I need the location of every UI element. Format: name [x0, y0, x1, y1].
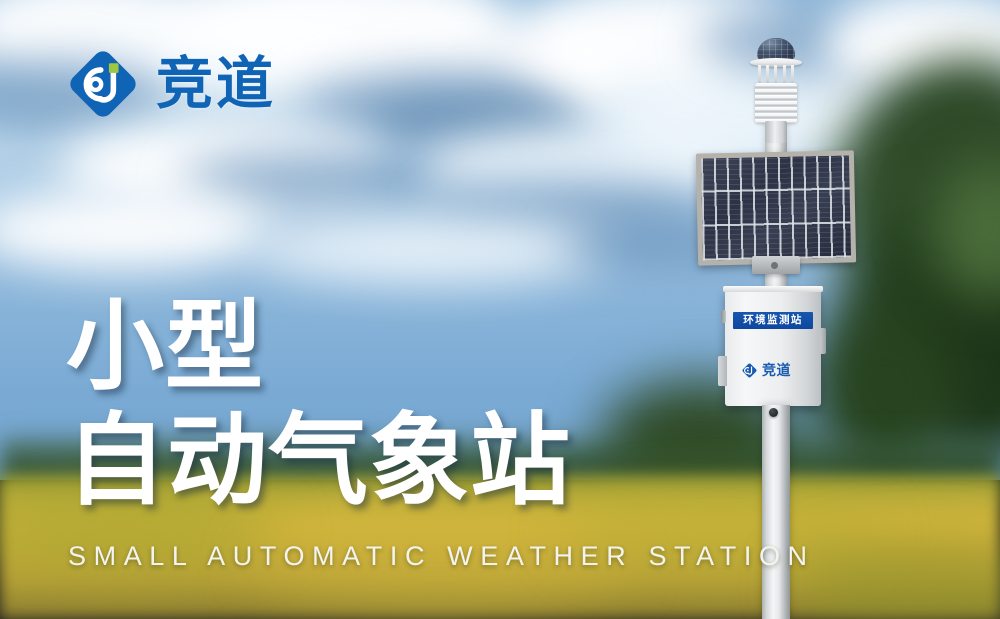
- promotional-banner: 环境监测站 竞道: [0, 0, 1000, 619]
- brand-name: 竞道: [156, 56, 276, 113]
- headline-block: 小型 自动气象站: [66, 296, 571, 514]
- subtitle-english: SMALL AUTOMATIC WEATHER STATION: [68, 541, 815, 572]
- jingdao-diamond-logo-icon: [66, 47, 140, 121]
- headline-line-1: 小型: [66, 296, 571, 400]
- brand-logo[interactable]: 竞道: [66, 47, 276, 121]
- headline-line-2: 自动气象站: [66, 408, 571, 514]
